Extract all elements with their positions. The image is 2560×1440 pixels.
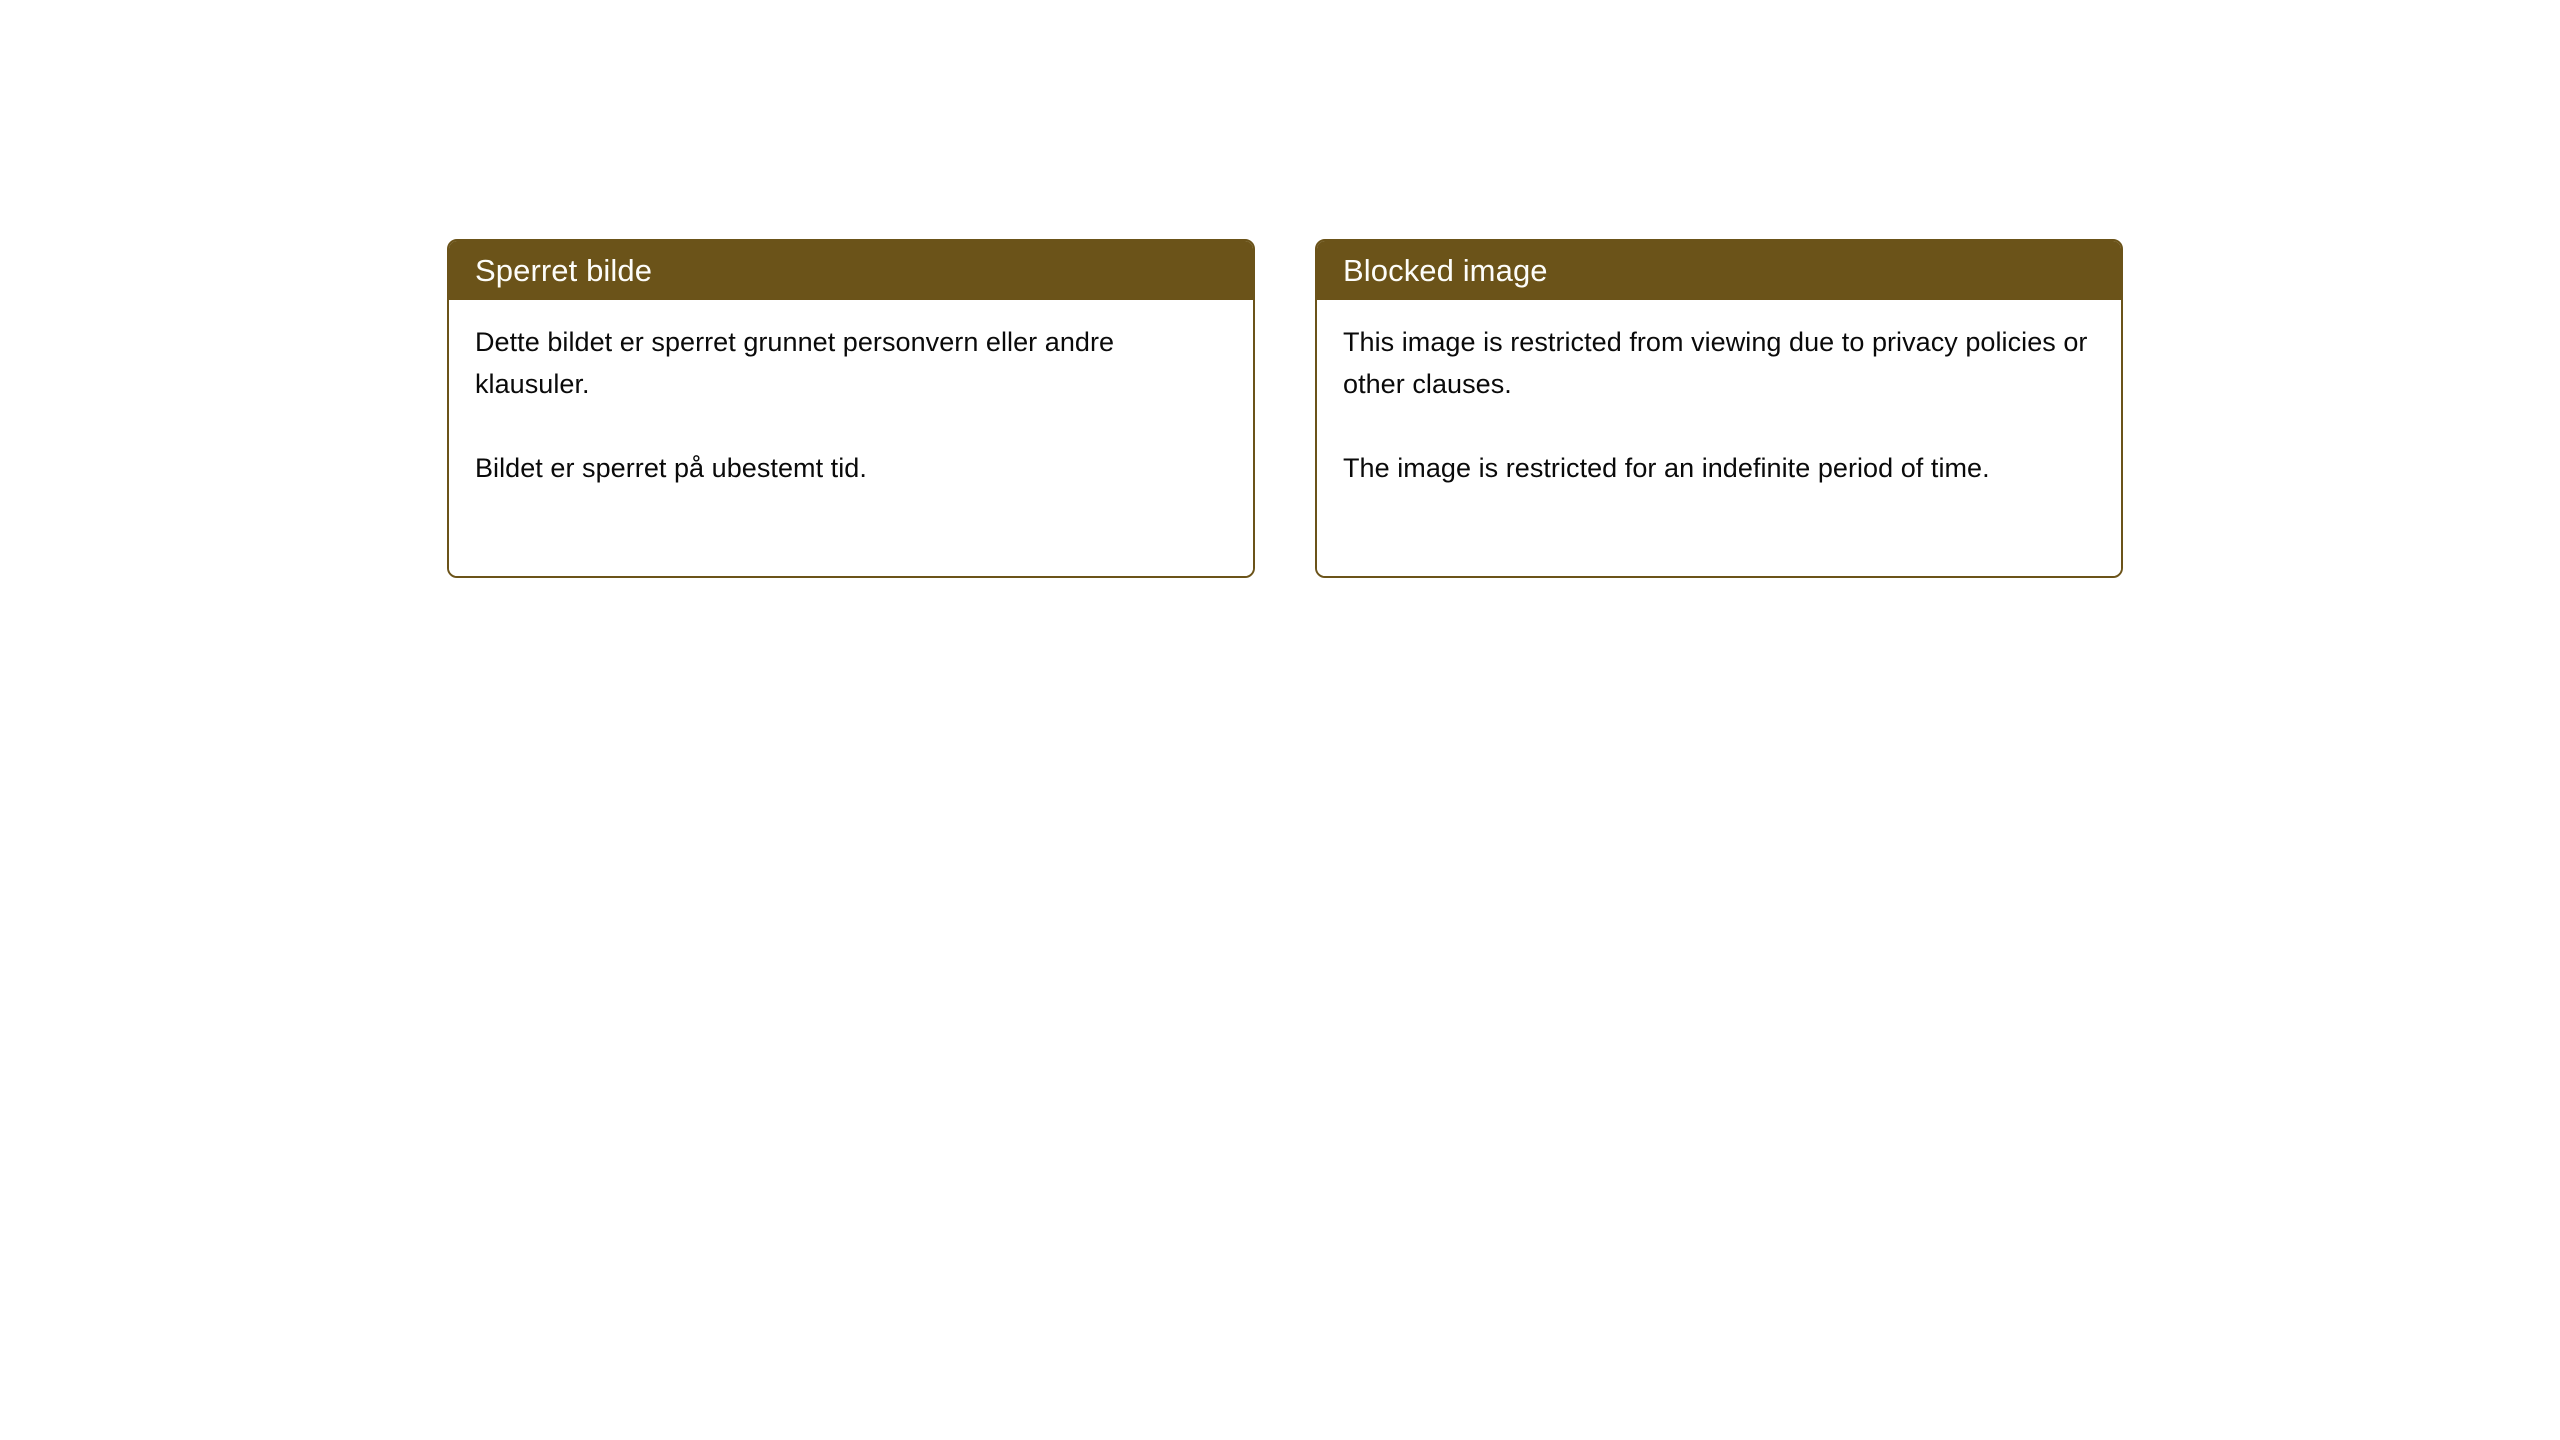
card-header-english: Blocked image [1317, 241, 2121, 300]
card-body-english: This image is restricted from viewing du… [1317, 300, 2121, 576]
card-paragraph-secondary-norwegian: Bildet er sperret på ubestemt tid. [475, 447, 1225, 489]
card-title-english: Blocked image [1343, 255, 1548, 286]
blocked-image-notice-card-english: Blocked image This image is restricted f… [1315, 239, 2123, 578]
card-title-norwegian: Sperret bilde [475, 255, 652, 286]
card-trailing-spacer-norwegian [475, 489, 1227, 531]
notice-cards-row: Sperret bilde Dette bildet er sperret gr… [447, 239, 2123, 578]
card-body-norwegian: Dette bildet er sperret grunnet personve… [449, 300, 1253, 576]
card-paragraph-primary-norwegian: Dette bildet er sperret grunnet personve… [475, 321, 1225, 405]
page-root: Sperret bilde Dette bildet er sperret gr… [0, 0, 2560, 1440]
card-paragraph-primary-english: This image is restricted from viewing du… [1343, 321, 2093, 405]
blocked-image-notice-card-norwegian: Sperret bilde Dette bildet er sperret gr… [447, 239, 1255, 578]
card-header-norwegian: Sperret bilde [449, 241, 1253, 300]
card-paragraph-secondary-english: The image is restricted for an indefinit… [1343, 447, 2093, 489]
